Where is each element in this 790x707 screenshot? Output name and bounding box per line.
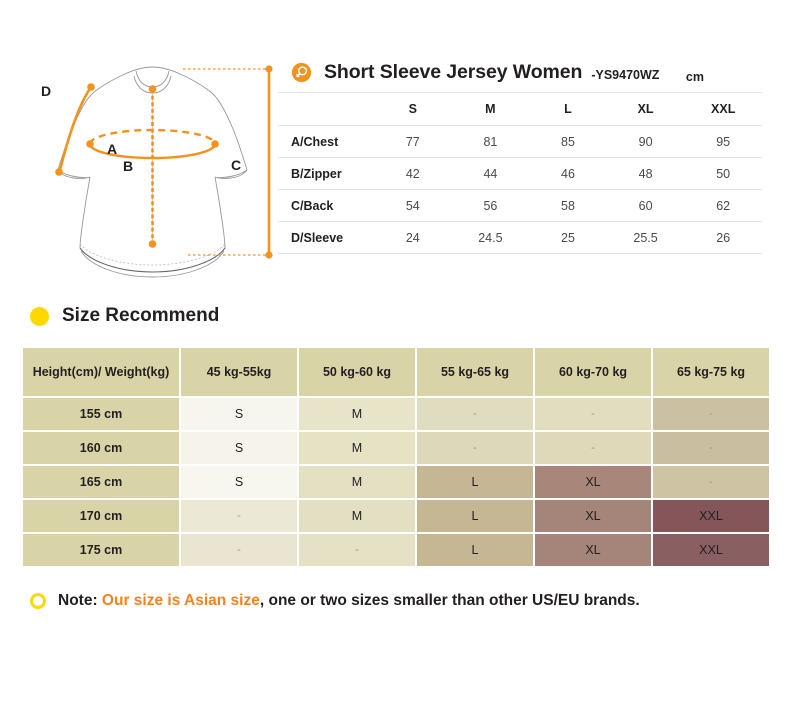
recommend-size-cell: L	[416, 499, 534, 533]
table-row: 170 cm - M L XL XXL	[22, 499, 770, 533]
recommend-size-cell: -	[534, 397, 652, 431]
recommend-size-cell: XL	[534, 533, 652, 567]
table-row: A/Chest 77 81 85 90 95	[278, 126, 762, 158]
measurement-cell: 62	[684, 190, 762, 222]
diagram-label-c: C	[231, 157, 241, 173]
table-row: C/Back 54 56 58 60 62	[278, 190, 762, 222]
recommend-size-cell: L	[416, 465, 534, 499]
measurement-header-row: S M L XL XXL	[278, 93, 762, 126]
recommend-size-cell: -	[298, 533, 416, 567]
measurement-row-label: A/Chest	[278, 126, 374, 158]
measurement-cell: 60	[607, 190, 685, 222]
product-title-row: Short Sleeve Jersey Women -YS9470WZ cm	[278, 52, 762, 92]
measurement-cell: 46	[529, 158, 607, 190]
recommend-size-cell: M	[298, 465, 416, 499]
recommend-weight-header-5: 65 kg-75 kg	[652, 347, 770, 397]
recommend-size-cell: M	[298, 431, 416, 465]
recommend-size-cell: L	[416, 533, 534, 567]
recommend-size-cell: -	[652, 465, 770, 499]
measurement-cell: 77	[374, 126, 452, 158]
recommend-size-cell: XL	[534, 499, 652, 533]
measurement-corner-cell	[278, 93, 374, 126]
measurement-row-label: B/Zipper	[278, 158, 374, 190]
note-text: Note: Our size is Asian size, one or two…	[58, 592, 640, 610]
size-recommend-title: Size Recommend	[62, 305, 219, 327]
recommend-size-cell: M	[298, 397, 416, 431]
diagram-label-a: A	[107, 141, 117, 157]
top-section: A B C D Short Sleeve Jersey Women -YS947…	[0, 0, 790, 290]
recommend-size-cell: S	[180, 397, 298, 431]
measurement-cell: 42	[374, 158, 452, 190]
size-header-xxl: XXL	[684, 93, 762, 126]
recommend-corner-header: Height(cm)/ Weight(kg)	[22, 347, 180, 397]
recommend-size-cell: -	[652, 431, 770, 465]
measurement-table-block: Short Sleeve Jersey Women -YS9470WZ cm S…	[278, 52, 762, 254]
size-header-m: M	[452, 93, 530, 126]
measurement-row-label: D/Sleeve	[278, 222, 374, 254]
measurement-cell: 26	[684, 222, 762, 254]
venus-female-icon	[291, 62, 312, 83]
recommend-size-cell: -	[652, 397, 770, 431]
size-recommend-heading: Size Recommend	[30, 305, 219, 327]
recommend-size-cell: XXL	[652, 499, 770, 533]
measurement-table: S M L XL XXL A/Chest 77 81 85 90 95	[278, 92, 762, 254]
recommend-weight-header-3: 55 kg-65 kg	[416, 347, 534, 397]
recommend-size-cell: -	[416, 431, 534, 465]
diagram-label-d: D	[41, 83, 51, 99]
recommend-height-label: 155 cm	[22, 397, 180, 431]
recommend-size-cell: M	[298, 499, 416, 533]
note-suffix: , one or two sizes smaller than other US…	[260, 592, 640, 609]
measurement-cell: 24	[374, 222, 452, 254]
recommend-size-cell: XXL	[652, 533, 770, 567]
diagram-label-b: B	[123, 158, 133, 174]
measurement-cell: 85	[529, 126, 607, 158]
recommend-height-label: 175 cm	[22, 533, 180, 567]
size-chart-page: A B C D Short Sleeve Jersey Women -YS947…	[0, 0, 790, 707]
recommend-height-label: 165 cm	[22, 465, 180, 499]
measurement-cell: 44	[452, 158, 530, 190]
recommend-weight-header-4: 60 kg-70 kg	[534, 347, 652, 397]
recommend-size-cell: S	[180, 431, 298, 465]
recommend-weight-header-1: 45 kg-55kg	[180, 347, 298, 397]
size-header-s: S	[374, 93, 452, 126]
recommend-weight-header-2: 50 kg-60 kg	[298, 347, 416, 397]
recommend-size-cell: -	[534, 431, 652, 465]
measurement-cell: 56	[452, 190, 530, 222]
note-prefix: Note:	[58, 592, 102, 609]
bullet-dot-icon	[30, 307, 49, 326]
measurement-cell: 48	[607, 158, 685, 190]
table-row: 175 cm - - L XL XXL	[22, 533, 770, 567]
note-row: Note: Our size is Asian size, one or two…	[30, 592, 640, 610]
measurement-cell: 90	[607, 126, 685, 158]
recommend-size-cell: -	[180, 533, 298, 567]
recommend-size-cell: -	[180, 499, 298, 533]
size-header-xl: XL	[607, 93, 685, 126]
recommend-size-cell: S	[180, 465, 298, 499]
recommend-size-cell: -	[416, 397, 534, 431]
table-row: 165 cm S M L XL -	[22, 465, 770, 499]
measurement-unit-label: cm	[686, 70, 704, 84]
recommend-height-label: 160 cm	[22, 431, 180, 465]
table-row: 155 cm S M - - -	[22, 397, 770, 431]
measurement-cell: 25	[529, 222, 607, 254]
measurement-cell: 54	[374, 190, 452, 222]
product-title: Short Sleeve Jersey Women	[324, 61, 582, 84]
recommend-height-label: 170 cm	[22, 499, 180, 533]
jersey-measurement-diagram: A B C D	[28, 48, 280, 280]
measurement-row-label: C/Back	[278, 190, 374, 222]
recommend-header-row: Height(cm)/ Weight(kg) 45 kg-55kg 50 kg-…	[22, 347, 770, 397]
size-recommend-table: Height(cm)/ Weight(kg) 45 kg-55kg 50 kg-…	[22, 347, 770, 567]
measurement-cell: 95	[684, 126, 762, 158]
table-row: B/Zipper 42 44 46 48 50	[278, 158, 762, 190]
measurement-cell: 81	[452, 126, 530, 158]
size-header-l: L	[529, 93, 607, 126]
table-row: 160 cm S M - - -	[22, 431, 770, 465]
measurement-cell: 58	[529, 190, 607, 222]
measurement-cell: 24.5	[452, 222, 530, 254]
note-accent: Our size is Asian size	[102, 592, 260, 609]
product-model-code: -YS9470WZ	[591, 68, 659, 82]
measure-c-group	[183, 65, 273, 258]
measurement-cell: 25.5	[607, 222, 685, 254]
recommend-size-cell: XL	[534, 465, 652, 499]
table-row: D/Sleeve 24 24.5 25 25.5 26	[278, 222, 762, 254]
measurement-cell: 50	[684, 158, 762, 190]
ring-bullet-icon	[30, 593, 46, 609]
